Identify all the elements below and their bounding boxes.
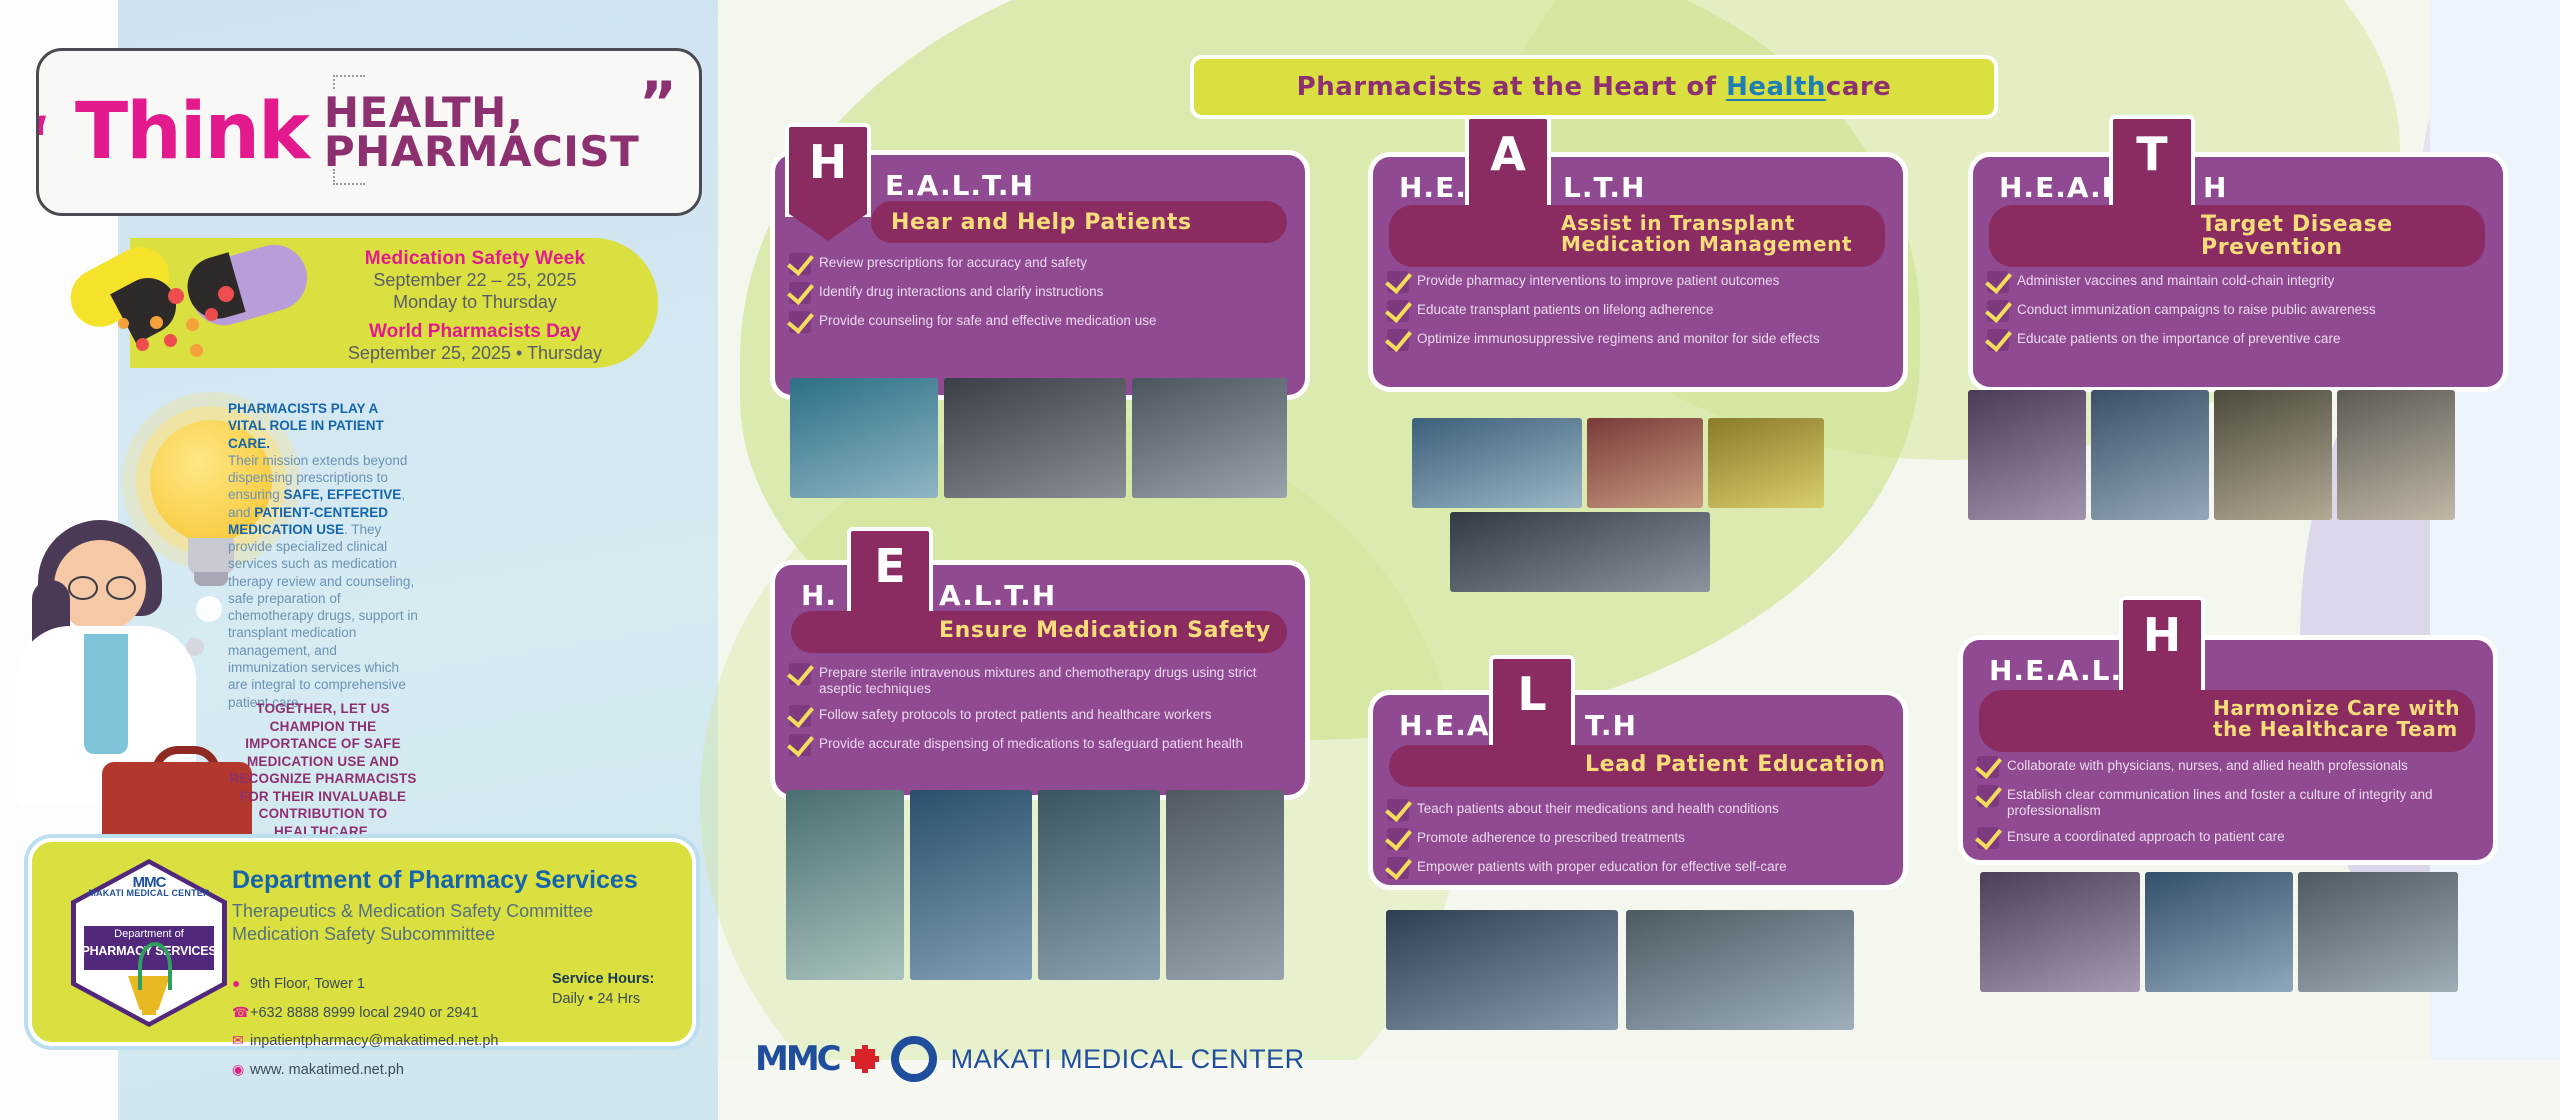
photo [2298, 872, 2458, 992]
pill-dot [168, 288, 184, 304]
photo [790, 378, 938, 498]
photo [1166, 790, 1284, 980]
card-acronym-suffix: A.L.T.H [939, 579, 1056, 612]
bullet-item: Collaborate with physicians, nurses, and… [1977, 756, 2475, 778]
photo-strip-patient-education [1386, 910, 1854, 1030]
photo-strip-prevention [1968, 390, 2455, 520]
left-column: “ Think Health, Pharmacist ” Medication … [0, 0, 718, 1120]
photo [2145, 872, 2293, 992]
pill-dot [205, 308, 218, 321]
card-title: Assist in Transplant Medication Manageme… [1561, 213, 1903, 255]
department-subtitles: Therapeutics & Medication Safety Committ… [232, 900, 593, 946]
check-icon [1387, 799, 1409, 821]
pill-dot [118, 318, 129, 329]
intro-bold-1: SAFE, EFFECTIVE [284, 487, 402, 502]
character-glasses-icon [68, 576, 134, 596]
bullet-item: Prepare sterile intravenous mixtures and… [789, 663, 1287, 698]
bullet-item: Educate transplant patients on lifelong … [1387, 300, 1885, 322]
pill-dot [164, 334, 177, 347]
committee-line-2: Medication Safety Subcommittee [232, 923, 593, 946]
bullet-item: Review prescriptions for accuracy and sa… [789, 253, 1287, 275]
snake-icon [138, 942, 172, 990]
check-icon [1987, 329, 2009, 351]
medication-safety-week-days: Monday to Thursday [300, 292, 650, 314]
card-letter-badge: T [2109, 115, 2195, 219]
banner-part1: Pharmacists at the Heart of [1297, 72, 1726, 102]
department-website[interactable]: www. makatimed.net.ph [250, 1062, 404, 1078]
card-letter: E [851, 531, 929, 589]
card-title: Harmonize Care with the Healthcare Team [2213, 698, 2493, 740]
check-icon [789, 705, 811, 727]
check-icon [789, 663, 811, 685]
check-icon [1387, 857, 1409, 879]
card-lead-patient-education[interactable]: H.E.A. L T.H Lead Patient Education Teac… [1368, 690, 1908, 890]
service-hours-label: Service Hours: [552, 971, 654, 987]
photo [2091, 390, 2209, 520]
card-letter: H [789, 127, 867, 185]
bullet-text: Provide pharmacy interventions to improv… [1417, 271, 1779, 289]
card-title: Lead Patient Education [1585, 753, 1886, 776]
bowl-stem [142, 1007, 156, 1015]
card-letter: T [2113, 119, 2191, 177]
check-icon [789, 282, 811, 304]
bullet-text: Ensure a coordinated approach to patient… [2007, 827, 2285, 845]
photo-strip-transplant-top [1412, 418, 1824, 508]
bullet-item: Establish clear communication lines and … [1977, 785, 2475, 820]
main-banner: Pharmacists at the Heart of Healthcare [1190, 55, 1998, 119]
logo-line-pharmacist: Pharmacist [324, 132, 639, 171]
card-letter: A [1469, 119, 1547, 177]
card-acronym: E.A.L.T.H [885, 169, 1034, 202]
banner-highlight: Health [1726, 72, 1826, 102]
floating-pill [186, 638, 204, 656]
campaign-logo-card: “ Think Health, Pharmacist ” [36, 48, 702, 216]
pill-dot [218, 286, 234, 302]
bullet-text: Empower patients with proper education f… [1417, 857, 1787, 875]
photo-strip-transplant-bottom [1450, 512, 1710, 592]
card-hear-and-help-patients[interactable]: H E.A.L.T.H Hear and Help Patients Revie… [770, 150, 1310, 400]
check-icon [1987, 300, 2009, 322]
check-icon [1977, 756, 1999, 778]
safety-week-text: Medication Safety Week September 22 – 25… [300, 248, 650, 365]
department-contact-card: MMC MAKATI MEDICAL CENTER Department of … [28, 838, 696, 1046]
card-title: Hear and Help Patients [891, 211, 1192, 234]
photo [1980, 872, 2140, 992]
photo [1450, 512, 1710, 592]
check-icon [789, 734, 811, 756]
bullet-text: Administer vaccines and maintain cold-ch… [2017, 271, 2334, 289]
medication-safety-week-title: Medication Safety Week [300, 248, 650, 270]
check-icon [1387, 329, 1409, 351]
pill-dot [150, 316, 163, 329]
bullet-item: Teach patients about their medications a… [1387, 799, 1885, 821]
dashed-corner-top [333, 75, 365, 89]
bullet-text: Conduct immunization campaigns to raise … [2017, 300, 2376, 318]
card-header: H.E. A L.T.H Assist in Transplant Medica… [1373, 157, 1903, 249]
mmc-monogram: MMC [755, 1039, 839, 1079]
photo [910, 790, 1032, 980]
bullet-item: Provide counseling for safe and effectiv… [789, 311, 1287, 333]
floating-pill [196, 596, 222, 622]
card-acronym-prefix: H.E. [1399, 171, 1467, 204]
bullet-item: Ensure a coordinated approach to patient… [1977, 827, 2475, 849]
phone-icon: ☎ [232, 999, 250, 1026]
banner-title: Pharmacists at the Heart of Healthcare [1297, 72, 1892, 102]
photo [786, 790, 904, 980]
photo-strip-harmonize [1980, 872, 2458, 992]
intro-heading: PHARMACISTS PLAY A VITAL ROLE IN PATIENT… [228, 400, 418, 452]
photo [2337, 390, 2455, 520]
card-ensure-medication-safety[interactable]: H. E A.L.T.H Ensure Medication Safety Pr… [770, 560, 1310, 800]
card-bullets: Collaborate with physicians, nurses, and… [1963, 732, 2493, 866]
card-acronym-suffix: L.T.H [1563, 171, 1645, 204]
bullet-text: Review prescriptions for accuracy and sa… [819, 253, 1087, 271]
bullet-item: Identify drug interactions and clarify i… [789, 282, 1287, 304]
photo [1412, 418, 1582, 508]
bullet-item: Conduct immunization campaigns to raise … [1987, 300, 2485, 322]
location-pin-icon: ● [232, 970, 250, 997]
bullet-item: Empower patients with proper education f… [1387, 857, 1885, 879]
check-icon [789, 253, 811, 275]
card-title: Target Disease Prevention [2201, 213, 2503, 260]
photo [1708, 418, 1824, 508]
photo-strip-hear-and-help [790, 378, 1287, 498]
bullet-text: Collaborate with physicians, nurses, and… [2007, 756, 2408, 774]
card-assist-in-transplant[interactable]: H.E. A L.T.H Assist in Transplant Medica… [1368, 152, 1908, 392]
check-icon [1387, 300, 1409, 322]
dashed-corner-bottom [333, 169, 365, 185]
pill-dot [136, 338, 149, 351]
check-icon [1387, 828, 1409, 850]
photo [1968, 390, 2086, 520]
logo-health-pharmacist: Health, Pharmacist [324, 93, 639, 172]
card-acronym-prefix: H.E.A. [1399, 709, 1502, 742]
card-acronym-prefix: H. [801, 579, 837, 612]
bullet-text: Follow safety protocols to protect patie… [819, 705, 1211, 723]
seal-org-name: MAKATI MEDICAL CENTER [76, 888, 222, 898]
bullet-item: Educate patients on the importance of pr… [1987, 329, 2485, 351]
photo-strip-ensure-safety [786, 790, 1284, 980]
bullet-text: Promote adherence to prescribed treatmen… [1417, 828, 1685, 846]
bullet-text: Optimize immunosuppressive regimens and … [1417, 329, 1820, 347]
bullet-item: Provide accurate dispensing of medicatio… [789, 734, 1287, 756]
bullet-text: Educate transplant patients on lifelong … [1417, 300, 1713, 318]
bullet-text: Educate patients on the importance of pr… [2017, 329, 2340, 347]
quote-open-mark: “ [36, 103, 48, 176]
check-icon [1977, 827, 1999, 849]
pill-dot [186, 318, 199, 331]
photo [2214, 390, 2332, 520]
mmc-circle-icon [891, 1036, 937, 1082]
card-header: H.E.A.L.T H Harmonize Care with the Heal… [1963, 640, 2493, 732]
pill-dot [190, 344, 203, 357]
medical-cross-icon [855, 1049, 875, 1069]
card-header: H.E.A.L. T H Target Disease Prevention [1973, 157, 2503, 249]
bullet-text: Establish clear communication lines and … [2007, 785, 2475, 820]
lightbulb-base-tip [194, 572, 228, 586]
card-bullets: Prepare sterile intravenous mixtures and… [775, 657, 1305, 773]
department-title: Department of Pharmacy Services [232, 866, 638, 895]
photo [1038, 790, 1160, 980]
department-location: 9th Floor, Tower 1 [250, 976, 365, 992]
medication-safety-week-dates: September 22 – 25, 2025 [300, 270, 650, 292]
photo [944, 378, 1126, 498]
check-icon [1987, 271, 2009, 293]
card-header: H E.A.L.T.H Hear and Help Patients [775, 155, 1305, 247]
card-harmonize-care[interactable]: H.E.A.L.T H Harmonize Care with the Heal… [1958, 635, 2498, 865]
intro-paragraph: PHARMACISTS PLAY A VITAL ROLE IN PATIENT… [228, 400, 418, 711]
card-letter: H [2123, 600, 2201, 658]
globe-www-icon: ◉ [232, 1056, 250, 1083]
card-bullets: Review prescriptions for accuracy and sa… [775, 247, 1305, 350]
card-letter-badge: H [785, 123, 871, 217]
intro-body-3: . They provide specialized clinical serv… [228, 522, 418, 710]
photo [1587, 418, 1703, 508]
world-pharmacists-day-title: World Pharmacists Day [300, 321, 650, 343]
pharmacy-services-seal: MMC MAKATI MEDICAL CENTER Department of … [76, 864, 222, 1022]
bullet-item: Provide pharmacy interventions to improv… [1387, 271, 1885, 293]
check-icon [1977, 785, 1999, 807]
department-phone: +632 8888 8999 local 2940 or 2941 [250, 1005, 479, 1021]
bullet-item: Administer vaccines and maintain cold-ch… [1987, 271, 2485, 293]
department-contact-list: ●9th Floor, Tower 1 ☎+632 8888 8999 loca… [232, 970, 498, 1084]
card-title: Ensure Medication Safety [939, 619, 1271, 642]
bullet-text: Identify drug interactions and clarify i… [819, 282, 1103, 300]
committee-line-1: Therapeutics & Medication Safety Committ… [232, 900, 593, 923]
card-letter-badge: A [1465, 115, 1551, 219]
envelope-icon: ✉ [232, 1027, 250, 1054]
card-letter-badge: H [2119, 596, 2205, 702]
makati-medical-center-logo: MMC MAKATI MEDICAL CENTER [755, 1036, 1305, 1082]
seal-dept-line1: Department of [76, 928, 222, 940]
bullet-text: Teach patients about their medications a… [1417, 799, 1779, 817]
world-pharmacists-day-dates: September 25, 2025 • Thursday [300, 343, 650, 365]
character-inner-shirt [84, 634, 128, 754]
check-icon [789, 311, 811, 333]
card-bullets: Teach patients about their medications a… [1373, 787, 1903, 896]
check-icon [1387, 271, 1409, 293]
card-letter-badge: L [1489, 655, 1575, 757]
department-email[interactable]: inpatientpharmacy@makatimed.net.ph [250, 1033, 498, 1049]
bullet-text: Prepare sterile intravenous mixtures and… [819, 663, 1287, 698]
card-target-disease-prevention[interactable]: H.E.A.L. T H Target Disease Prevention A… [1968, 152, 2508, 392]
bullet-text: Provide accurate dispensing of medicatio… [819, 734, 1243, 752]
mmc-org-name: MAKATI MEDICAL CENTER [951, 1044, 1305, 1075]
card-acronym-suffix: T.H [1585, 709, 1637, 742]
bullet-text: Provide counseling for safe and effectiv… [819, 311, 1156, 329]
service-hours-value: Daily • 24 Hrs [552, 990, 654, 1010]
banner-part2: care [1826, 72, 1891, 102]
quote-close-mark: ” [639, 69, 673, 137]
photo [1386, 910, 1618, 1030]
bullet-item: Follow safety protocols to protect patie… [789, 705, 1287, 727]
bullet-item: Promote adherence to prescribed treatmen… [1387, 828, 1885, 850]
call-to-action-text: TOGETHER, LET US CHAMPION THE IMPORTANCE… [222, 700, 424, 840]
logo-think-word: Think [75, 87, 308, 177]
card-header: H.E.A. L T.H Lead Patient Education [1373, 695, 1903, 787]
photo [1132, 378, 1287, 498]
service-hours: Service Hours: Daily • 24 Hrs [552, 970, 654, 1009]
bullet-item: Optimize immunosuppressive regimens and … [1387, 329, 1885, 351]
card-acronym-suffix: H [2203, 171, 2227, 204]
card-header: H. E A.L.T.H Ensure Medication Safety [775, 565, 1305, 657]
card-letter: L [1493, 659, 1571, 717]
photo [1626, 910, 1854, 1030]
